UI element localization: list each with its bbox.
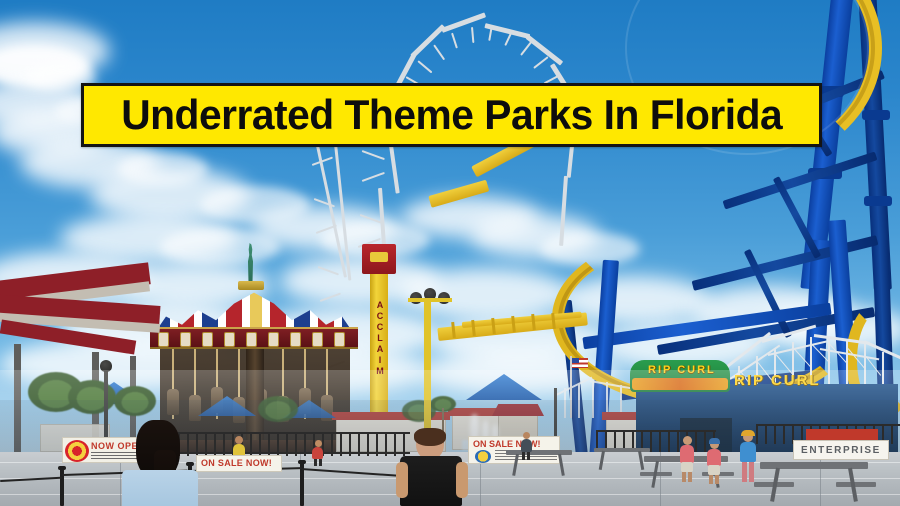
carousel-crown — [238, 281, 264, 290]
drop-tower-label: ACCLAIM — [375, 300, 385, 377]
person-midground — [312, 440, 324, 466]
on-sale-text: ON SALE NOW! — [201, 458, 272, 468]
drop-tower-cabin-logo — [370, 252, 388, 262]
carousel-frieze — [150, 327, 358, 349]
person-walking — [738, 432, 758, 482]
person-walking — [706, 440, 723, 484]
rip-curl-entry-arch-sign: RIP CURL — [648, 364, 716, 376]
person-foreground-center — [396, 428, 468, 506]
enterprise-sign-top-band — [806, 429, 878, 440]
sale-badge-icon — [475, 450, 491, 463]
screenshot-canvas: ACCLAIM — [0, 0, 900, 506]
starburst-icon — [65, 440, 89, 462]
title-banner: Underrated Theme Parks In Florida — [81, 83, 822, 147]
person-walking — [678, 436, 696, 482]
picnic-table — [506, 450, 572, 476]
american-flag — [572, 358, 588, 368]
rip-curl-building-sign: RIP CURL — [734, 372, 821, 389]
on-sale-banner-carousel: ON SALE NOW! — [196, 455, 282, 472]
lamp-head-icon — [100, 360, 112, 372]
picnic-table — [760, 462, 868, 502]
enterprise-ride-sign: ENTERPRISE — [793, 440, 889, 460]
enterprise-sign-text: ENTERPRISE — [801, 445, 881, 456]
title-text: Underrated Theme Parks In Florida — [121, 93, 782, 137]
person-foreground-left — [112, 420, 204, 506]
white-lattice-sky-arch — [380, 10, 570, 310]
picnic-table — [594, 448, 650, 470]
person-midground — [520, 432, 533, 460]
